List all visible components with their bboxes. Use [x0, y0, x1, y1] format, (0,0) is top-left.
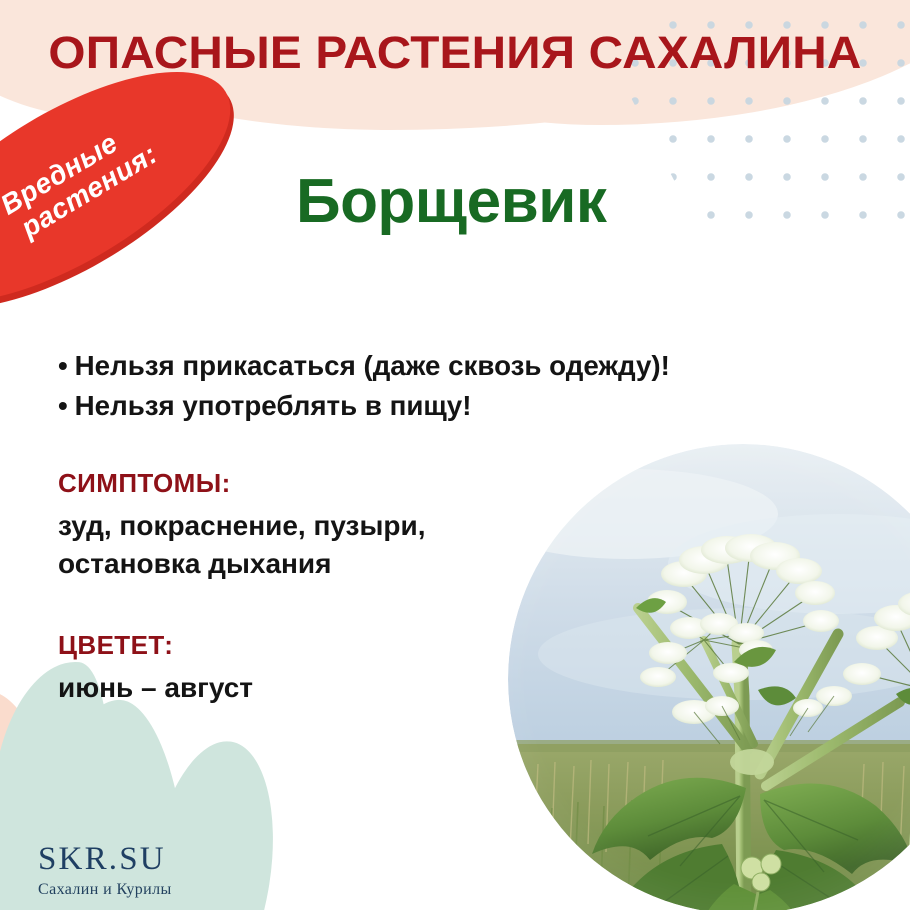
bloom-period-heading: ЦВЕТЕТ:: [58, 630, 538, 661]
symptoms-line: остановка дыхания: [58, 545, 538, 583]
warning-item: •Нельзя употреблять в пищу!: [58, 386, 840, 426]
warning-text: Нельзя прикасаться (даже сквозь одежду)!: [75, 350, 670, 381]
poster-canvas: ОПАСНЫЕ РАСТЕНИЯ САХАЛИНА Вредные растен…: [0, 0, 910, 910]
warning-item: •Нельзя прикасаться (даже сквозь одежду)…: [58, 346, 840, 386]
site-logo[interactable]: SKR.SU Сахалин и Курилы: [38, 843, 172, 899]
bloom-period-body: июнь – август: [58, 669, 538, 707]
warning-text: Нельзя употреблять в пищу!: [75, 390, 472, 421]
logo-primary-text: SKR.SU: [38, 843, 172, 876]
logo-tagline: Сахалин и Курилы: [38, 881, 172, 899]
symptoms-body: зуд, покраснение, пузыри, остановка дыха…: [58, 507, 538, 583]
hogweed-photo-illustration: [508, 444, 910, 910]
symptoms-heading: СИМПТОМЫ:: [58, 468, 538, 499]
plant-name-heading: Борщевик: [296, 166, 606, 237]
symptoms-line: зуд, покраснение, пузыри,: [58, 507, 538, 545]
symptoms-section: СИМПТОМЫ: зуд, покраснение, пузыри, оста…: [58, 468, 538, 583]
warning-list: •Нельзя прикасаться (даже сквозь одежду)…: [58, 346, 848, 426]
hogweed-photo: [508, 444, 910, 910]
bullet-icon: •: [58, 346, 68, 386]
bloom-period-line: июнь – август: [58, 669, 538, 707]
bullet-icon: •: [58, 386, 68, 426]
bloom-period-section: ЦВЕТЕТ: июнь – август: [58, 630, 538, 707]
